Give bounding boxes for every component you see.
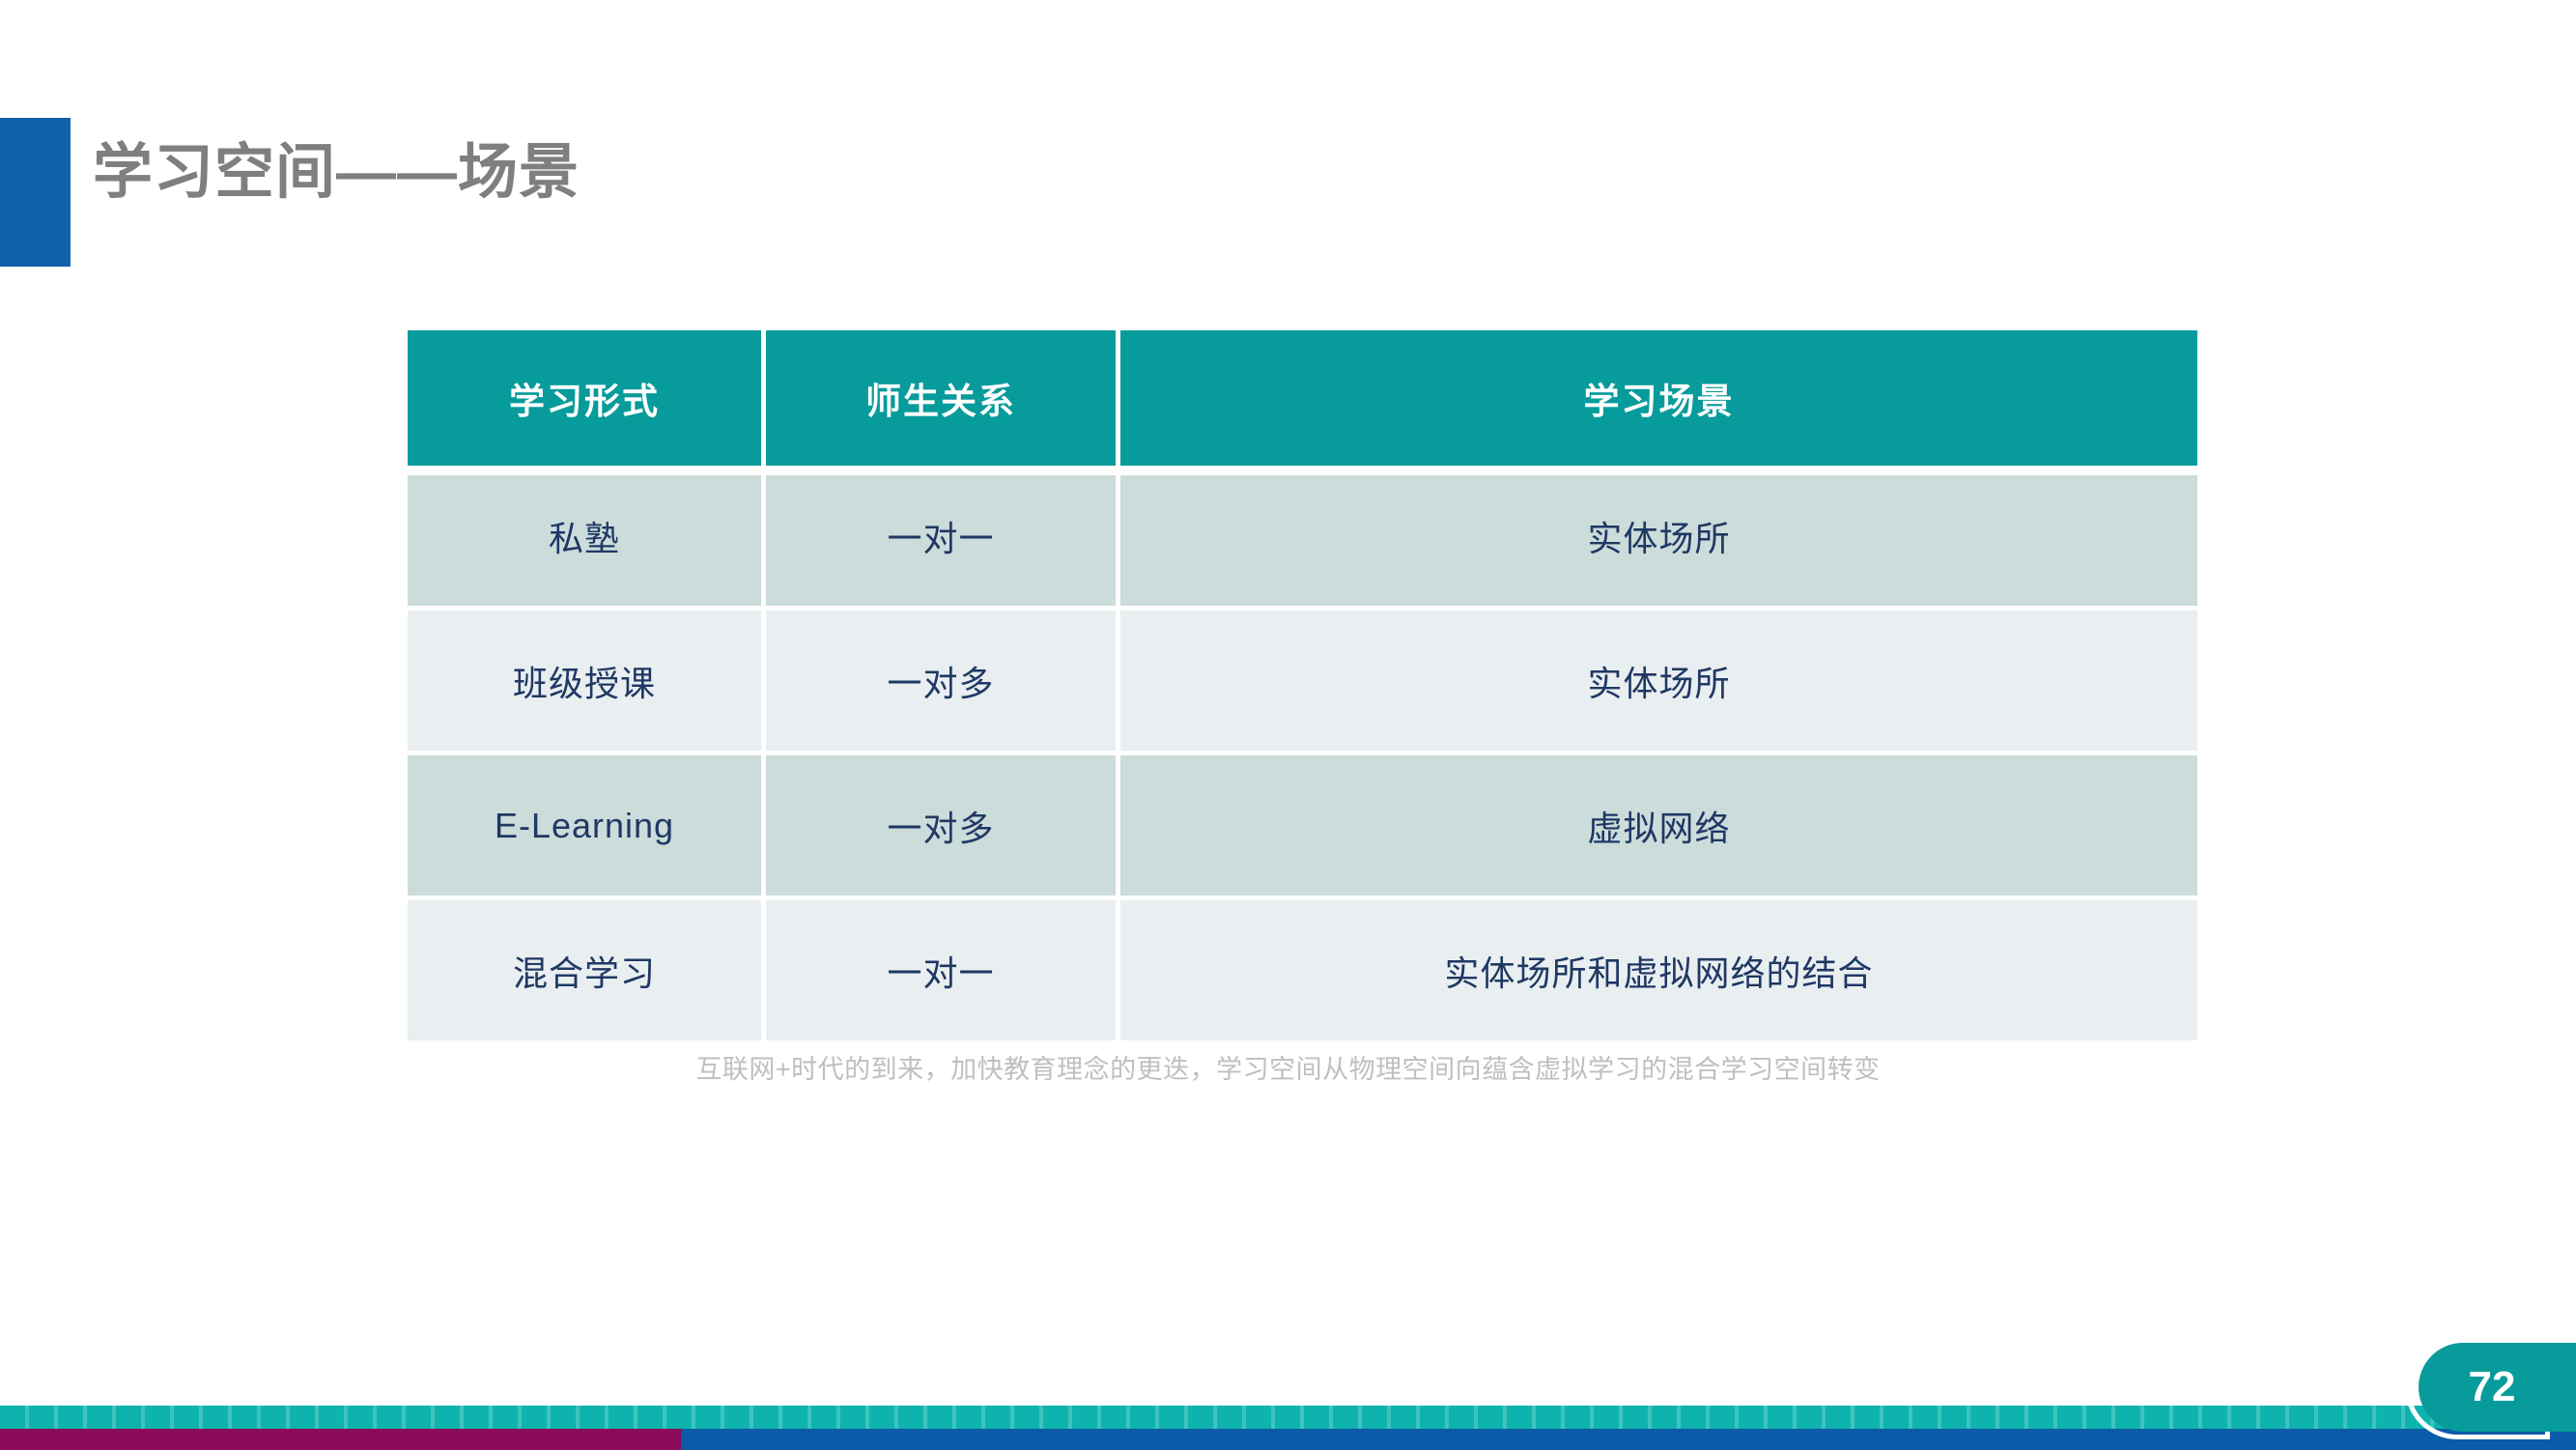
table-row: 私塾 一对一 实体场所 [408, 466, 2197, 611]
cell-scene: 虚拟网络 [1120, 755, 2197, 900]
footer-bar-blue [681, 1429, 2576, 1450]
table-caption: 互联网+时代的到来，加快教育理念的更迭，学习空间从物理空间向蕴含虚拟学习的混合学… [0, 1048, 2576, 1086]
cell-relation: 一对一 [766, 900, 1120, 1040]
column-header-learning-form: 学习形式 [408, 330, 766, 466]
cell-relation: 一对多 [766, 611, 1120, 755]
table-row: 混合学习 一对一 实体场所和虚拟网络的结合 [408, 900, 2197, 1040]
footer-stripe-band [0, 1406, 2576, 1429]
cell-learning-form: 混合学习 [408, 900, 766, 1040]
table-row: 班级授课 一对多 实体场所 [408, 611, 2197, 755]
page-title: 学习空间——场景 [93, 140, 580, 206]
page-number-badge: 72 [2405, 1335, 2576, 1439]
cell-relation: 一对一 [766, 466, 1120, 611]
header-separator [408, 466, 2197, 475]
cell-learning-form: 班级授课 [408, 611, 766, 755]
table-header: 学习形式 师生关系 学习场景 [408, 330, 2197, 466]
page-number-label: 72 [2444, 1343, 2540, 1432]
learning-space-table: 学习形式 师生关系 学习场景 私塾 一对一 实体场所 班级授课 一对多 实体场所… [408, 330, 2197, 1040]
cell-learning-form: 私塾 [408, 466, 766, 611]
table-body: 私塾 一对一 实体场所 班级授课 一对多 实体场所 E-Learning 一对多… [408, 466, 2197, 1040]
cell-scene: 实体场所 [1120, 466, 2197, 611]
table-header-row: 学习形式 师生关系 学习场景 [408, 330, 2197, 466]
column-header-learning-scene: 学习场景 [1120, 330, 2197, 466]
footer-bar-purple [0, 1429, 681, 1450]
column-header-teacher-student-relation: 师生关系 [766, 330, 1120, 466]
cell-relation: 一对多 [766, 755, 1120, 900]
cell-scene: 实体场所和虚拟网络的结合 [1120, 900, 2197, 1040]
title-accent-bar [0, 118, 71, 267]
cell-learning-form: E-Learning [408, 755, 766, 900]
table-row: E-Learning 一对多 虚拟网络 [408, 755, 2197, 900]
cell-scene: 实体场所 [1120, 611, 2197, 755]
